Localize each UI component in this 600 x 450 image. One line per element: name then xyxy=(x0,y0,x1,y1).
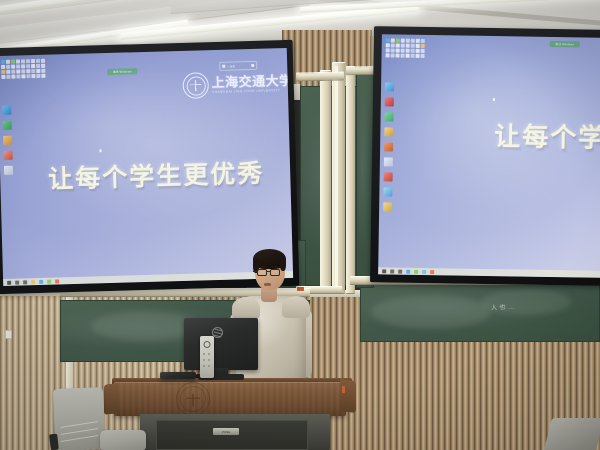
sjtu-logo: 上海交通大学 SHANGHAI JIAO TONG UNIVERSITY xyxy=(182,70,293,99)
taskbar-explorer-icon[interactable] xyxy=(31,280,35,284)
taskbar-media-icon[interactable] xyxy=(55,279,59,283)
widget-icon xyxy=(251,64,254,67)
screen-glare xyxy=(378,34,600,278)
chair-detail xyxy=(61,435,99,442)
chalkboard-writing: 人 也 … xyxy=(491,301,515,311)
chalk-residue xyxy=(371,295,491,329)
podium-drawer[interactable] xyxy=(156,420,308,450)
sjtu-logo-english: SHANGHAI JIAO TONG UNIVERSITY xyxy=(212,88,293,94)
desktop-icon[interactable] xyxy=(384,127,393,136)
slide-title-right: 让每个学 xyxy=(494,116,600,155)
desktop-icon[interactable] xyxy=(385,112,394,121)
remote-button[interactable] xyxy=(203,359,205,361)
screen-surface-left[interactable]: 激活 Windows 上海交通大学 SHANGHAI JIAO TONG UNI… xyxy=(0,48,293,286)
board-rail-vertical xyxy=(346,66,355,294)
presenter-hair-side xyxy=(280,257,286,271)
remote-button[interactable] xyxy=(203,353,205,355)
desktop-icon-cluster[interactable] xyxy=(1,59,46,79)
desktop-icon[interactable] xyxy=(3,136,12,145)
board-rail-vertical xyxy=(332,62,345,294)
podium-indicator-light xyxy=(342,386,345,393)
glasses-arm xyxy=(253,271,258,272)
podium-left-wing xyxy=(104,383,118,414)
remote-brand-icon xyxy=(204,341,211,348)
presenter-eyebrow xyxy=(271,266,279,268)
taskbar-mail-icon[interactable] xyxy=(47,279,51,283)
desktop-icon[interactable] xyxy=(384,142,393,151)
desktop-icon[interactable] xyxy=(385,82,394,91)
remote-button[interactable] xyxy=(208,353,210,355)
desktop-icon[interactable] xyxy=(383,187,392,196)
glasses-lens-right xyxy=(270,269,280,276)
taskbar-taskview-icon[interactable] xyxy=(398,269,402,273)
desktop-icon[interactable] xyxy=(383,202,392,211)
projection-screen-right: 激活 Windows 让每个学 xyxy=(370,26,600,286)
taskbar-start-icon[interactable] xyxy=(7,280,11,284)
sjtu-seal-icon xyxy=(182,72,209,99)
taskbar-browser-icon[interactable] xyxy=(39,279,43,283)
taskbar-search-icon[interactable] xyxy=(15,280,19,284)
chair-arm-left xyxy=(49,434,59,450)
podium-right-wing xyxy=(340,379,356,413)
windows-taskbar-left[interactable] xyxy=(3,271,293,286)
rail-highlight xyxy=(335,66,338,286)
slide-title-left: 让每个学生更优秀 xyxy=(48,154,265,196)
desktop-icon[interactable] xyxy=(3,151,12,160)
taskbar-mail-icon[interactable] xyxy=(422,269,426,273)
sjtu-logo-chinese: 上海交通大学 xyxy=(211,74,292,89)
mouse-cursor xyxy=(493,98,495,101)
rail-marker xyxy=(297,287,304,291)
windows-taskbar-right[interactable] xyxy=(378,267,600,278)
desktop-icon[interactable] xyxy=(384,172,393,181)
remote-control[interactable] xyxy=(200,336,214,378)
taskbar-media-icon[interactable] xyxy=(430,270,434,274)
remote-button[interactable] xyxy=(208,359,210,361)
windows-activation-watermark: 激活 Windows xyxy=(107,68,137,75)
presenter-shoulder-left xyxy=(232,297,260,319)
chair-seat-left[interactable] xyxy=(100,430,146,450)
widget-icon xyxy=(222,65,225,68)
windows-activation-watermark: 激活 Windows xyxy=(550,41,580,47)
wall-switch[interactable] xyxy=(5,330,12,339)
dell-monitor xyxy=(184,318,258,370)
desktop-icon-column[interactable] xyxy=(2,106,13,175)
desktop-icon-cluster[interactable] xyxy=(386,38,425,58)
podium-front-panel xyxy=(114,382,346,416)
mouse-cursor xyxy=(99,149,101,152)
presenter-eyebrow xyxy=(259,266,267,268)
chair-right[interactable] xyxy=(544,418,600,450)
chair-detail xyxy=(60,421,98,428)
lecture-hall-scene: 人 也 … xyxy=(0,0,600,450)
glasses-bridge xyxy=(267,271,270,272)
presenter-mouth xyxy=(264,283,271,286)
desktop-icon[interactable] xyxy=(2,106,11,115)
slide-floating-widget[interactable]: 一体机 xyxy=(219,61,257,71)
widget-label: 一体机 xyxy=(227,64,235,68)
glasses-lens-left xyxy=(257,269,267,276)
taskbar-search-icon[interactable] xyxy=(390,269,394,273)
desktop-icon[interactable] xyxy=(4,166,13,175)
board-rail-vertical xyxy=(320,70,331,292)
chair-left[interactable] xyxy=(53,387,105,450)
taskbar-browser-icon[interactable] xyxy=(414,269,418,273)
taskbar-taskview-icon[interactable] xyxy=(23,280,27,284)
board-rail-top xyxy=(296,71,344,81)
keyboard-edge xyxy=(160,372,196,379)
university-seal-engraving xyxy=(176,382,210,416)
taskbar-start-icon[interactable] xyxy=(382,269,386,273)
taskbar-explorer-icon[interactable] xyxy=(406,269,410,273)
presenter-shoulder-right xyxy=(282,296,310,318)
desktop-icon[interactable] xyxy=(384,157,393,166)
remote-button[interactable] xyxy=(208,365,210,367)
remote-button[interactable] xyxy=(203,365,205,367)
sjtu-name-block: 上海交通大学 SHANGHAI JIAO TONG UNIVERSITY xyxy=(211,74,292,94)
screen-surface-right[interactable]: 激活 Windows 让每个学 xyxy=(378,34,600,278)
desktop-icon[interactable] xyxy=(3,121,12,130)
chair-detail xyxy=(61,428,99,435)
desktop-icon-column[interactable] xyxy=(383,82,394,211)
chalkboard-right: 人 也 … xyxy=(360,280,600,342)
desktop-icon[interactable] xyxy=(385,97,394,106)
podium-drawer-handle[interactable]: PUSH xyxy=(213,428,239,435)
